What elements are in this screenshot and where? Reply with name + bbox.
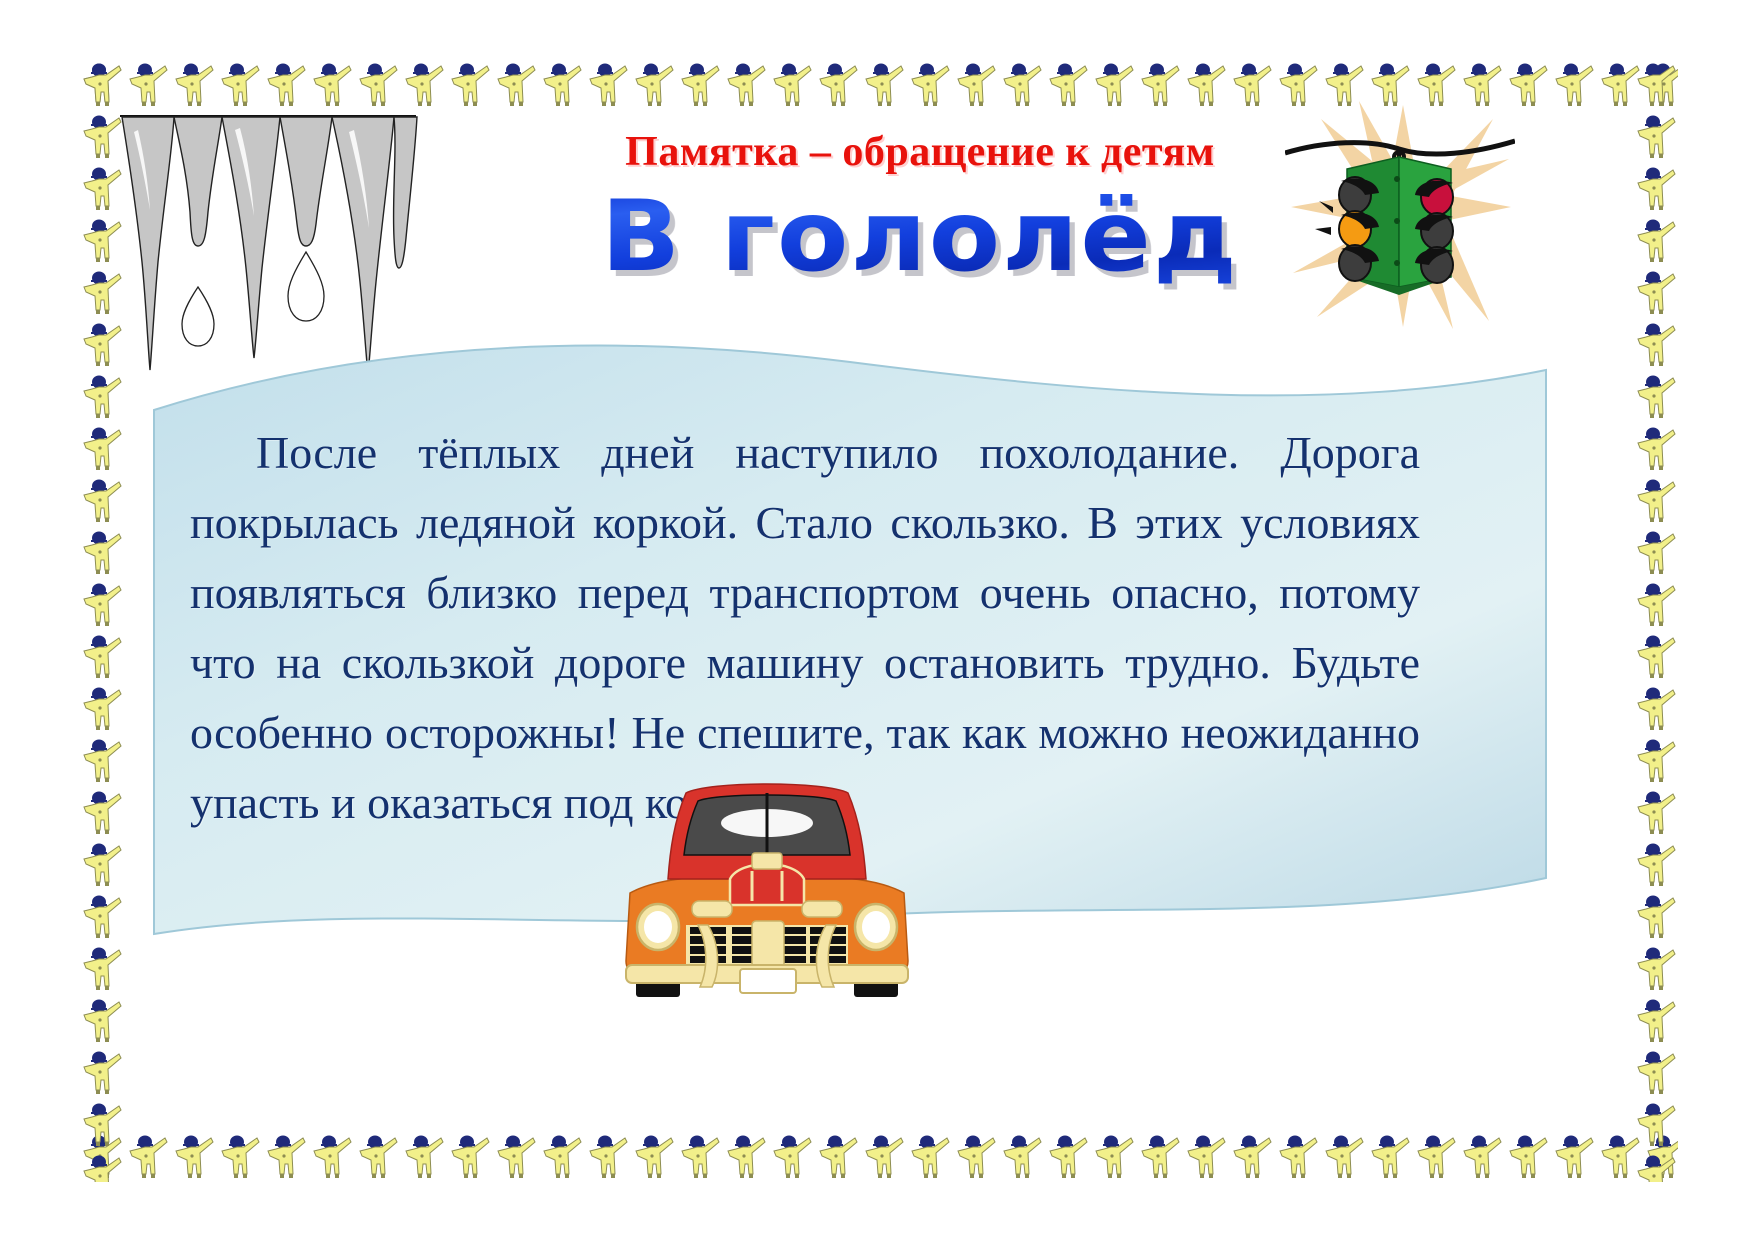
child-figure-icon [906, 1130, 952, 1182]
child-figure-icon [492, 1130, 538, 1182]
child-figure-icon [170, 1130, 216, 1182]
poster-canvas: Памятка – обращение к детям В гололёд По… [0, 0, 1753, 1240]
child-figure-icon [1632, 786, 1678, 838]
child-figure-icon [860, 1130, 906, 1182]
child-figure-icon [78, 630, 124, 682]
child-figure-icon [78, 786, 124, 838]
child-figure-icon [1044, 1130, 1090, 1182]
child-figure-icon [1632, 526, 1678, 578]
child-figure-icon [1458, 1130, 1504, 1182]
child-figure-icon [1550, 58, 1596, 110]
child-figure-icon [216, 58, 262, 110]
child-figure-icon [1632, 266, 1678, 318]
child-figure-icon [124, 58, 170, 110]
child-figure-icon [1228, 58, 1274, 110]
child-figure-icon [1182, 1130, 1228, 1182]
child-figure-icon [1228, 1130, 1274, 1182]
child-figure-icon [1632, 58, 1678, 110]
child-figure-icon [1044, 58, 1090, 110]
child-figure-icon [1274, 1130, 1320, 1182]
child-figure-icon [584, 1130, 630, 1182]
child-figure-icon [124, 1130, 170, 1182]
child-figure-icon [1632, 110, 1678, 162]
child-figure-icon [78, 1046, 124, 1098]
child-figure-icon [906, 58, 952, 110]
child-figure-icon [78, 682, 124, 734]
child-figure-icon [1090, 58, 1136, 110]
child-figure-icon [1632, 370, 1678, 422]
child-figure-icon [78, 474, 124, 526]
child-figure-icon [446, 1130, 492, 1182]
child-figure-icon [1632, 214, 1678, 266]
child-figure-icon [630, 1130, 676, 1182]
child-figure-icon [262, 1130, 308, 1182]
child-figure-icon [1632, 890, 1678, 942]
child-figure-icon [952, 58, 998, 110]
child-figure-icon [354, 1130, 400, 1182]
child-figure-icon [768, 1130, 814, 1182]
child-figure-icon [1632, 1150, 1678, 1182]
child-figure-icon [78, 734, 124, 786]
page-title: В гололёд [496, 186, 1344, 289]
child-figure-icon [1550, 1130, 1596, 1182]
child-figure-icon [1632, 162, 1678, 214]
child-figure-icon [768, 58, 814, 110]
border-bottom [78, 1130, 1678, 1182]
child-figure-icon [1504, 1130, 1550, 1182]
child-figure-icon [354, 58, 400, 110]
child-figure-icon [216, 1130, 262, 1182]
child-figure-icon [1632, 1098, 1678, 1150]
child-figure-icon [400, 58, 446, 110]
page-subtitle: Памятка – обращение к детям [540, 128, 1300, 176]
child-figure-icon [400, 1130, 446, 1182]
child-figure-icon [78, 526, 124, 578]
child-figure-icon [1136, 1130, 1182, 1182]
child-figure-icon [1632, 994, 1678, 1046]
child-figure-icon [308, 58, 354, 110]
child-figure-icon [78, 578, 124, 630]
child-figure-icon [78, 890, 124, 942]
car-front-icon [612, 775, 922, 1007]
child-figure-icon [78, 994, 124, 1046]
child-figure-icon [1090, 1130, 1136, 1182]
child-figure-icon [1632, 578, 1678, 630]
child-figure-icon [1182, 58, 1228, 110]
child-figure-icon [814, 1130, 860, 1182]
child-figure-icon [1632, 838, 1678, 890]
child-figure-icon [538, 1130, 584, 1182]
child-figure-icon [722, 58, 768, 110]
child-figure-icon [676, 58, 722, 110]
child-figure-icon [1632, 942, 1678, 994]
child-figure-icon [1632, 318, 1678, 370]
child-figure-icon [308, 1130, 354, 1182]
child-figure-icon [952, 1130, 998, 1182]
child-figure-icon [1632, 474, 1678, 526]
child-figure-icon [78, 58, 124, 110]
child-figure-icon [1412, 1130, 1458, 1182]
child-figure-icon [78, 942, 124, 994]
child-figure-icon [446, 58, 492, 110]
child-figure-icon [1632, 682, 1678, 734]
child-figure-icon [676, 1130, 722, 1182]
child-figure-icon [998, 58, 1044, 110]
child-figure-icon [860, 58, 906, 110]
child-figure-icon [630, 58, 676, 110]
child-figure-icon [1136, 58, 1182, 110]
child-figure-icon [78, 838, 124, 890]
child-figure-icon [998, 1130, 1044, 1182]
child-figure-icon [78, 1098, 124, 1150]
child-figure-icon [492, 58, 538, 110]
child-figure-icon [1366, 1130, 1412, 1182]
child-figure-icon [262, 58, 308, 110]
child-figure-icon [1320, 1130, 1366, 1182]
child-figure-icon [78, 1150, 124, 1182]
child-figure-icon [722, 1130, 768, 1182]
child-figure-icon [78, 422, 124, 474]
child-figure-icon [1632, 734, 1678, 786]
child-figure-icon [584, 58, 630, 110]
child-figure-icon [170, 58, 216, 110]
child-figure-icon [1632, 1046, 1678, 1098]
child-figure-icon [1632, 630, 1678, 682]
child-figure-icon [814, 58, 860, 110]
child-figure-icon [538, 58, 584, 110]
child-figure-icon [1632, 422, 1678, 474]
border-right [1632, 58, 1678, 1182]
